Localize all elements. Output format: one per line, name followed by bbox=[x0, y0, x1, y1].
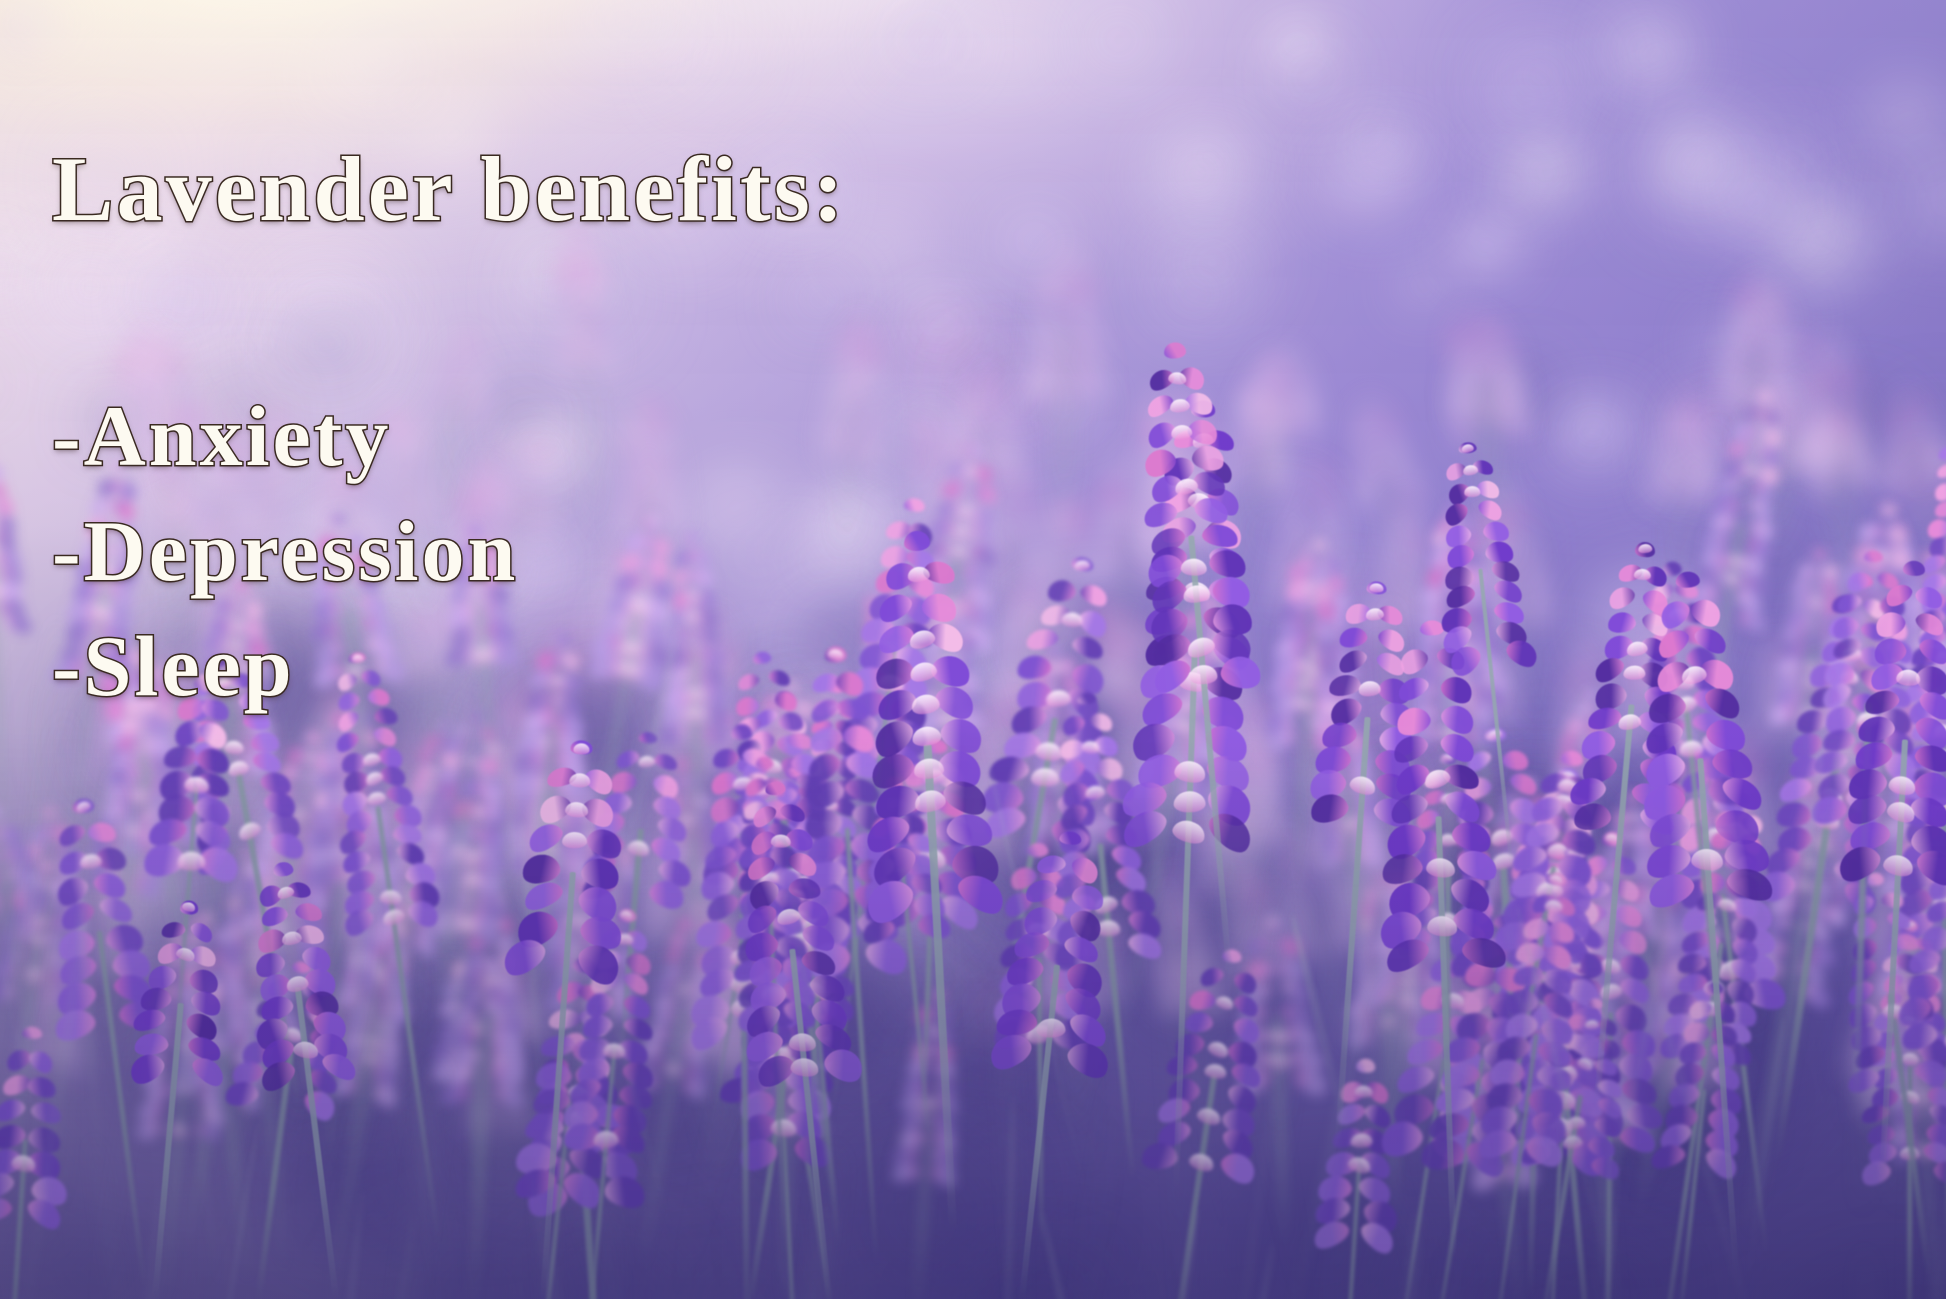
poster-image: Lavender benefits: -Anxiety -Depression … bbox=[0, 0, 1946, 1299]
benefit-item-depression: -Depression bbox=[52, 508, 518, 594]
benefit-item-sleep: -Sleep bbox=[52, 623, 295, 709]
benefit-item-anxiety: -Anxiety bbox=[52, 393, 391, 479]
page-title: Lavender benefits: bbox=[52, 143, 847, 235]
text-overlay: Lavender benefits: -Anxiety -Depression … bbox=[0, 0, 1946, 1299]
